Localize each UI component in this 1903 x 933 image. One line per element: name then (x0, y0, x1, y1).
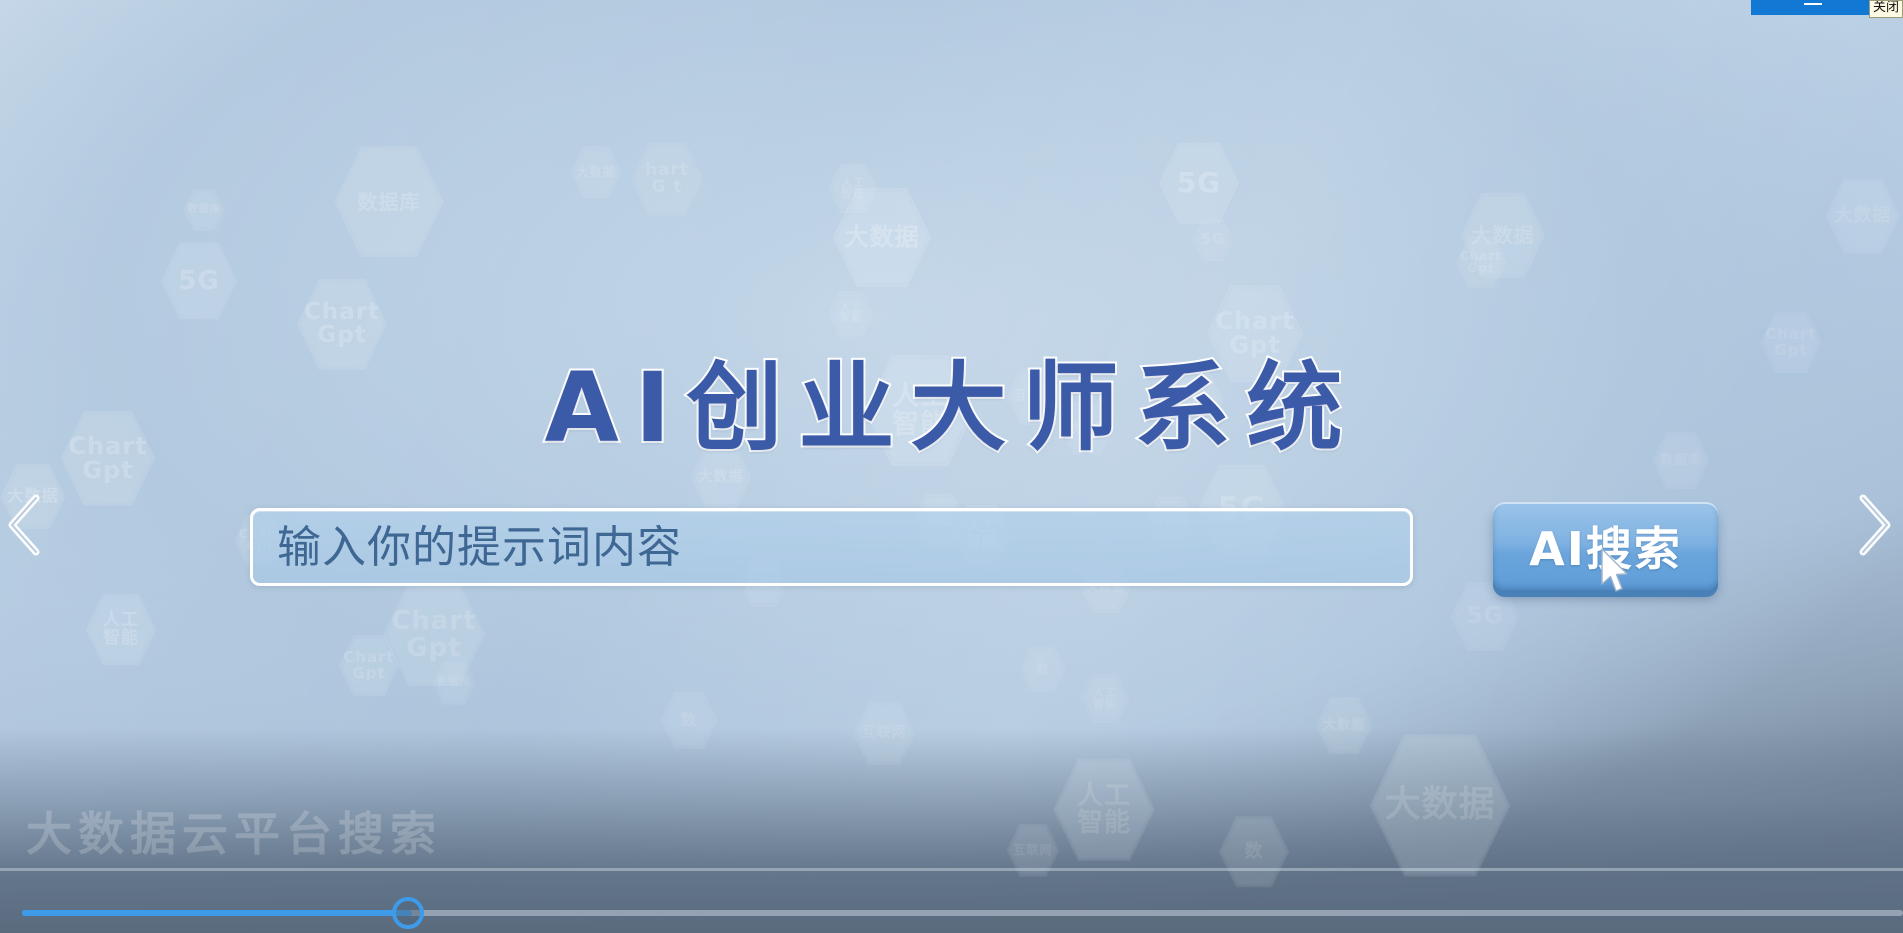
search-row: AI搜索 (250, 508, 1730, 590)
progress-knob[interactable] (392, 897, 424, 929)
app-root: 数据库数据库5GChart GptChart Gpt大数据Chart GptCh… (0, 0, 1903, 933)
progress-slider[interactable] (0, 893, 1903, 933)
close-tooltip: 关闭 (1869, 0, 1903, 18)
progress-fill (22, 910, 412, 916)
page-title: AI创业大师系统 (0, 330, 1903, 469)
minimize-button[interactable] (1751, 0, 1875, 15)
search-input[interactable] (250, 508, 1413, 586)
background-floor-line (0, 868, 1903, 871)
carousel-prev-arrow-icon[interactable] (2, 488, 48, 562)
carousel-next-arrow-icon[interactable] (1851, 488, 1897, 562)
ai-search-button[interactable]: AI搜索 (1493, 502, 1718, 590)
